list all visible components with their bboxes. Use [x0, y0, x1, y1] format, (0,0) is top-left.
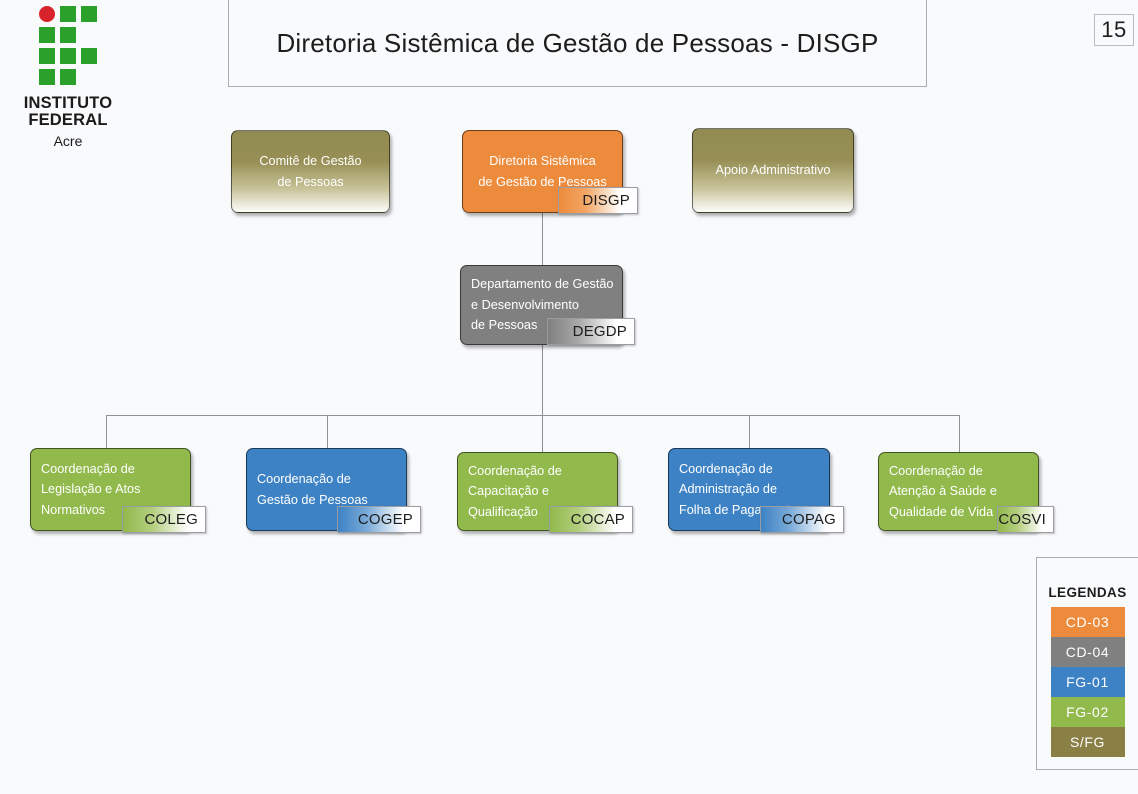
node-tag-coleg: COLEG	[122, 506, 206, 533]
legend-item-cd04[interactable]: CD-04	[1051, 637, 1125, 667]
logo-text-instituto: INSTITUTO	[8, 95, 128, 112]
node-tag-degdp: DEGDP	[547, 318, 635, 345]
node-tag-copag: COPAG	[760, 506, 844, 533]
legend-title: LEGENDAS	[1037, 585, 1138, 600]
connector-degdp-bus	[542, 345, 543, 415]
node-label: Apoio Administrativo	[693, 129, 853, 212]
connector-bus-coleg	[106, 415, 107, 448]
node-tag-cogep: COGEP	[337, 506, 421, 533]
page-title: Diretoria Sistêmica de Gestão de Pessoas…	[228, 0, 927, 87]
node-comite-gestao-pessoas[interactable]: Comitê de Gestão de Pessoas	[231, 130, 390, 213]
ifac-logo-icon	[39, 6, 97, 88]
logo-text-federal: FEDERAL	[8, 112, 128, 129]
node-tag-disgp: DISGP	[558, 187, 638, 214]
node-label: Comitê de Gestão de Pessoas	[232, 131, 389, 212]
connector-bus	[106, 415, 960, 416]
legend-label: FG-02	[1066, 704, 1109, 720]
page-number-badge: 15	[1094, 14, 1134, 46]
connector-bus-copag	[749, 415, 750, 448]
logo-text-campus: Acre	[8, 133, 128, 149]
connector-bus-cosvi	[959, 415, 960, 452]
institution-logo: INSTITUTO FEDERAL Acre	[8, 6, 128, 149]
page-number: 15	[1101, 17, 1126, 43]
legend-item-sfg[interactable]: S/FG	[1051, 727, 1125, 757]
legend-item-fg02[interactable]: FG-02	[1051, 697, 1125, 727]
legend-panel: LEGENDAS CD-03 CD-04 FG-01 FG-02 S/FG	[1036, 557, 1138, 770]
legend-label: CD-04	[1066, 644, 1109, 660]
legend-item-fg01[interactable]: FG-01	[1051, 667, 1125, 697]
slide-canvas: 15 INSTITUTO FEDERAL Acre Diretoria Sist…	[0, 0, 1138, 794]
legend-label: CD-03	[1066, 614, 1109, 630]
legend-item-cd03[interactable]: CD-03	[1051, 607, 1125, 637]
page-title-text: Diretoria Sistêmica de Gestão de Pessoas…	[276, 28, 878, 59]
connector-bus-cocap	[542, 415, 543, 452]
connector-disgp-degdp	[542, 213, 543, 267]
node-apoio-administrativo[interactable]: Apoio Administrativo	[692, 128, 854, 213]
node-tag-cosvi: COSVI	[997, 506, 1054, 533]
legend-label: S/FG	[1070, 734, 1105, 750]
legend-label: FG-01	[1066, 674, 1109, 690]
node-tag-cocap: COCAP	[549, 506, 633, 533]
legend-items: CD-03 CD-04 FG-01 FG-02 S/FG	[1051, 607, 1125, 757]
connector-bus-cogep	[327, 415, 328, 448]
